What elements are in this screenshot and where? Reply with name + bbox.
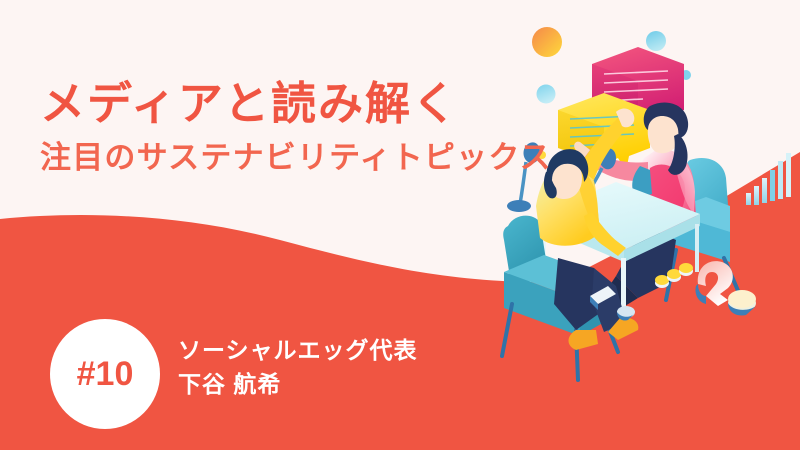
headline-block: メディアと読み解く 注目のサステナビリティトピックス bbox=[40, 78, 540, 178]
question-mark-icon bbox=[695, 261, 756, 315]
speaker-name: 下谷 航希 bbox=[178, 370, 508, 400]
page-subtitle: 注目のサステナビリティトピックス bbox=[40, 139, 540, 178]
slide-canvas: メディアと読み解く 注目のサステナビリティトピックス #10 ソーシャルエッグ代… bbox=[0, 0, 800, 450]
episode-number: #10 bbox=[77, 357, 134, 391]
speaker-role: ソーシャルエッグ代表 bbox=[178, 336, 508, 366]
episode-badge: #10 bbox=[50, 319, 160, 429]
page-title: メディアと読み解く bbox=[40, 78, 540, 130]
decor-circle-blue-right bbox=[646, 31, 666, 51]
speaker-block: ソーシャルエッグ代表 下谷 航希 bbox=[178, 336, 508, 400]
decor-circle-orange bbox=[532, 27, 562, 57]
bar-chart-prop bbox=[746, 153, 791, 205]
podcast-illustration bbox=[480, 0, 800, 450]
